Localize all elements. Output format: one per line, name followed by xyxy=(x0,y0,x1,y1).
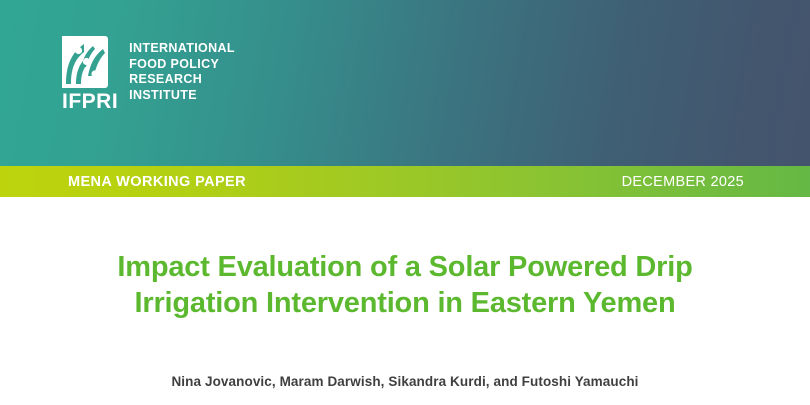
cover-body: Impact Evaluation of a Solar Powered Dri… xyxy=(0,197,810,405)
document-cover-page: IFPRI INTERNATIONAL FOOD POLICY RESEARCH… xyxy=(0,0,810,405)
publication-date-label: DECEMBER 2025 xyxy=(622,174,744,190)
publisher-name-line-4: INSTITUTE xyxy=(129,88,235,104)
page-title: Impact Evaluation of a Solar Powered Dri… xyxy=(0,249,810,321)
publisher-full-name: INTERNATIONAL FOOD POLICY RESEARCH INSTI… xyxy=(129,41,235,103)
logo-mark-group: IFPRI xyxy=(62,36,118,112)
series-label: MENA WORKING PAPER xyxy=(68,174,246,190)
header-gradient-band: IFPRI INTERNATIONAL FOOD POLICY RESEARCH… xyxy=(0,0,810,166)
publisher-name-line-1: INTERNATIONAL xyxy=(129,41,235,57)
ifpri-logo-lockup: IFPRI INTERNATIONAL FOOD POLICY RESEARCH… xyxy=(62,36,235,112)
publisher-name-line-3: RESEARCH xyxy=(129,72,235,88)
author-list: Nina Jovanovic, Maram Darwish, Sikandra … xyxy=(0,374,810,389)
ifpri-wordmark: IFPRI xyxy=(62,91,118,112)
publisher-name-line-2: FOOD POLICY xyxy=(129,57,235,73)
series-ribbon: MENA WORKING PAPER DECEMBER 2025 xyxy=(0,166,810,197)
ifpri-sprout-logo-icon xyxy=(62,36,108,88)
